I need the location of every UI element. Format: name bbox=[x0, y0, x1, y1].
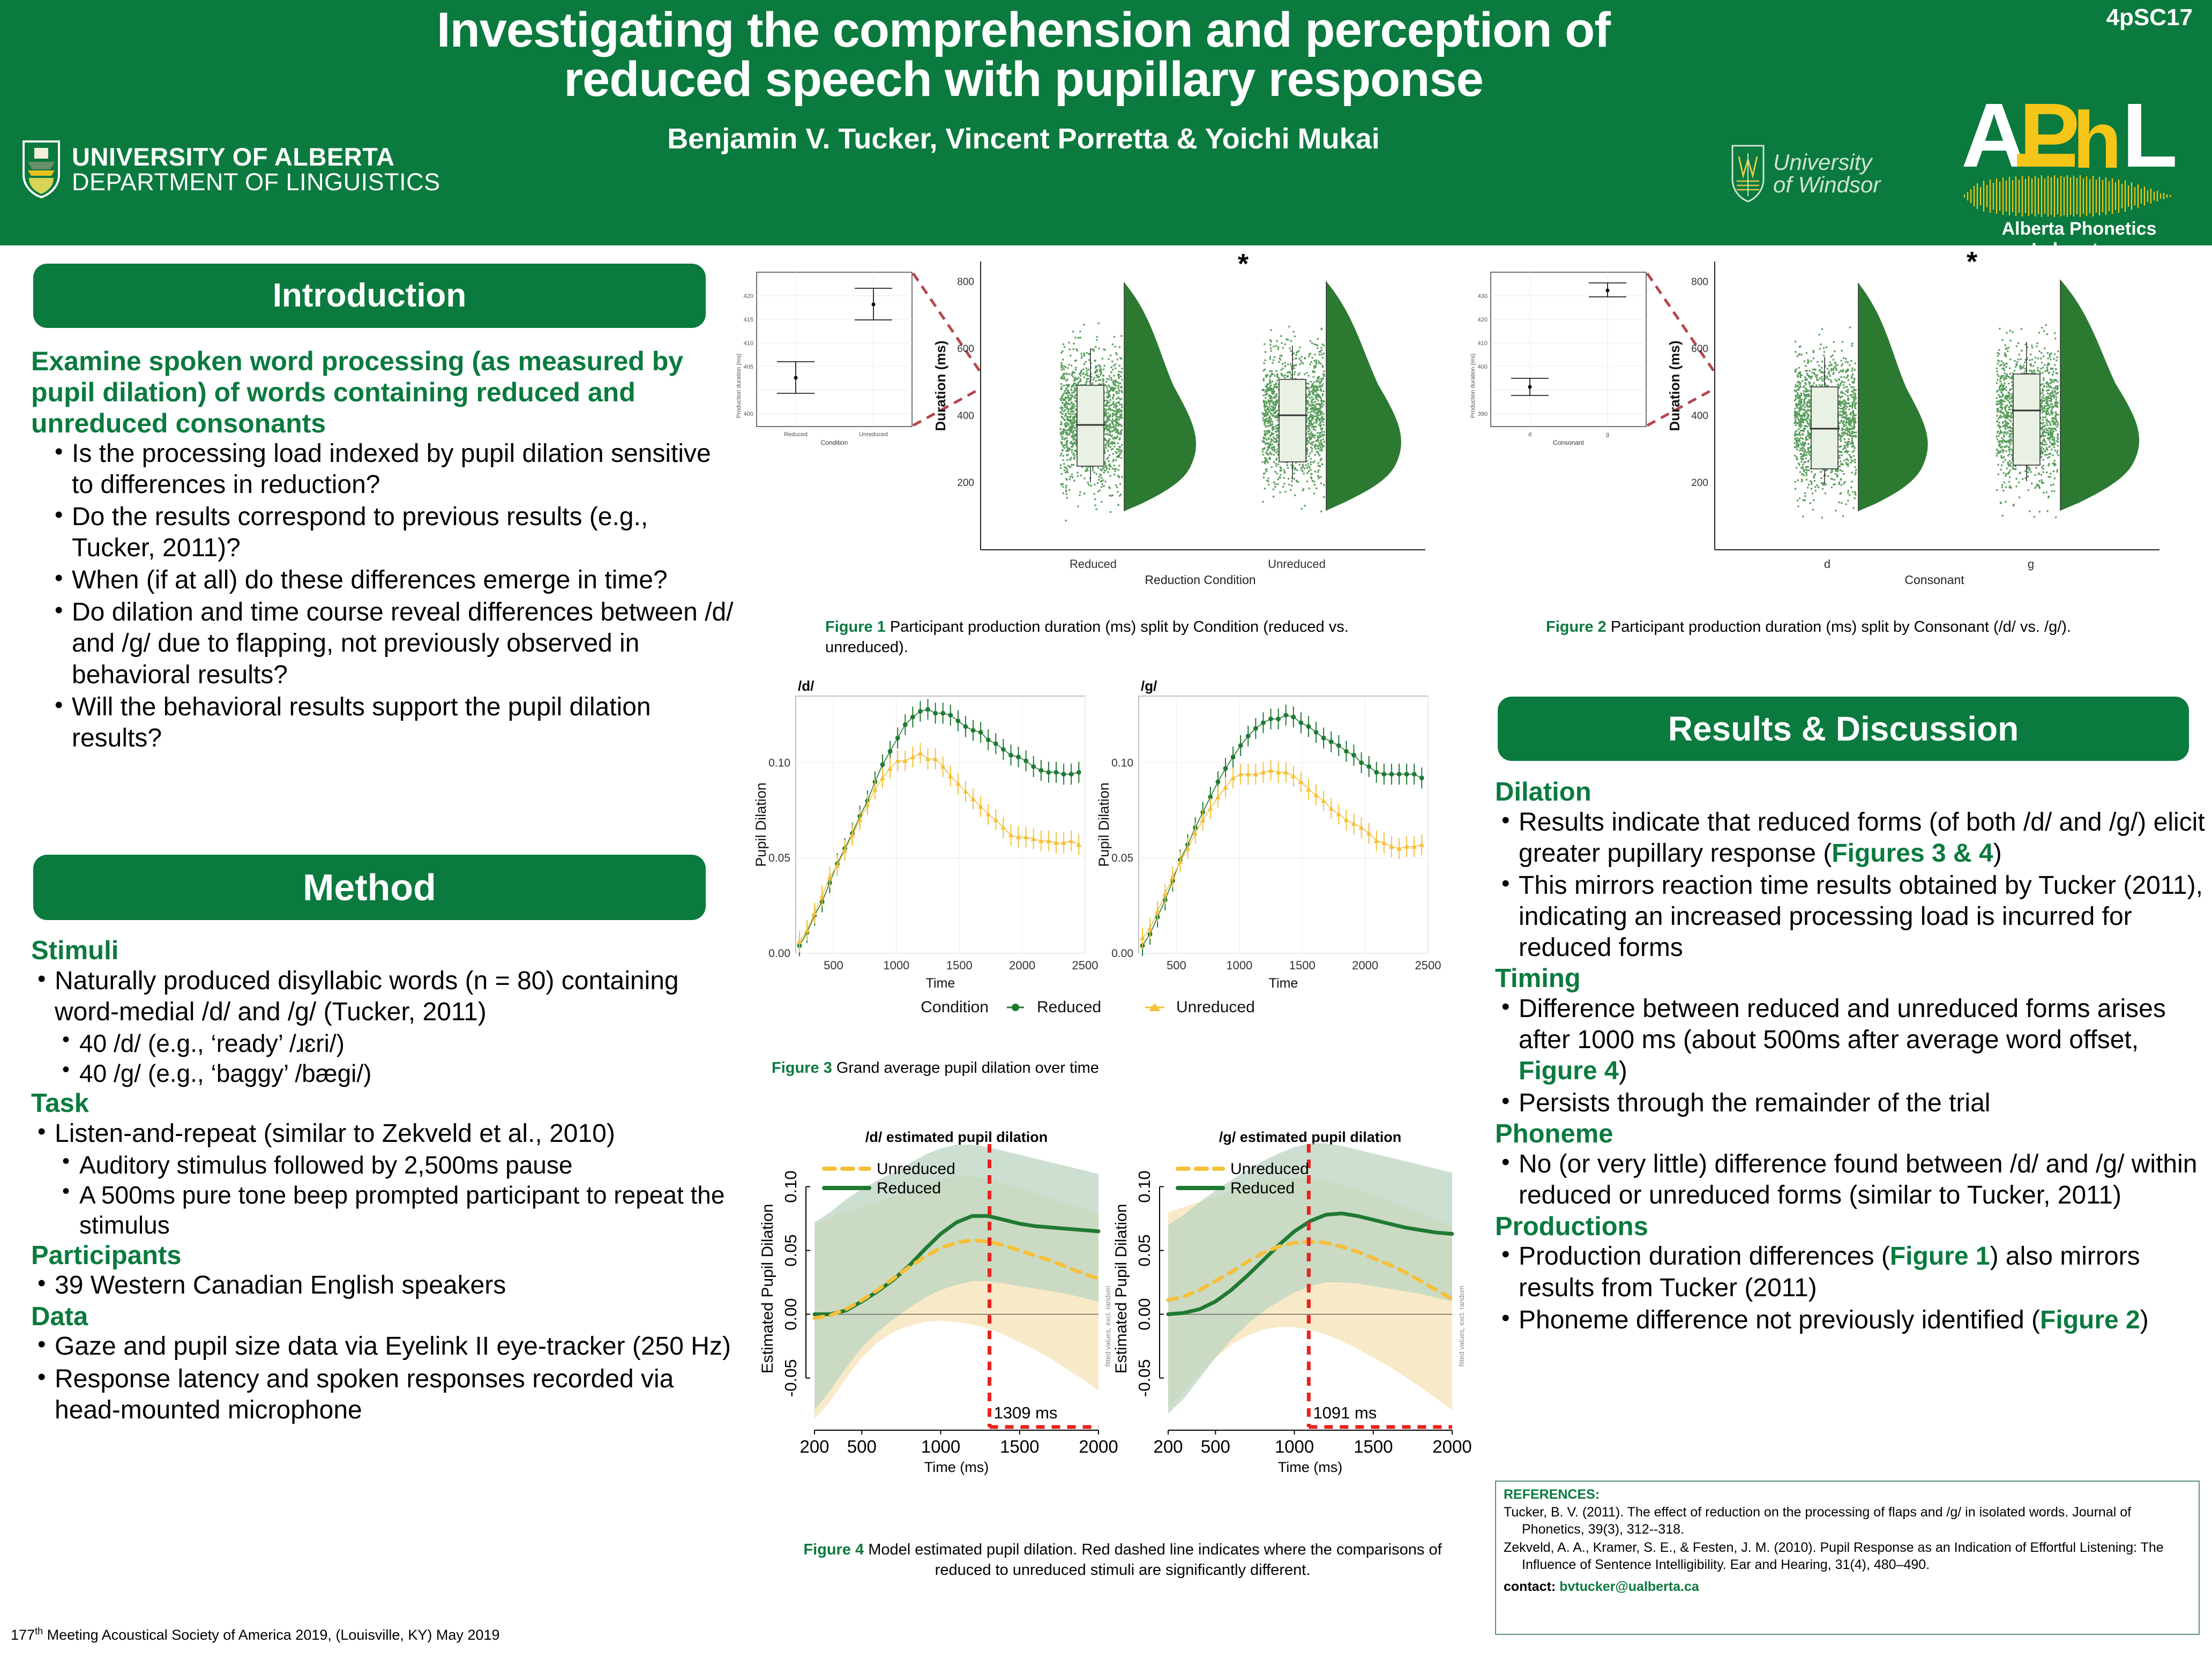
svg-text:Duration (ms): Duration (ms) bbox=[932, 341, 948, 431]
figure-2-density-g bbox=[2060, 280, 2139, 511]
svg-text:*: * bbox=[1967, 252, 1978, 278]
figure-4-caption: Figure 4 Model estimated pupil dilation.… bbox=[777, 1540, 1468, 1580]
svg-text:Consonant: Consonant bbox=[1553, 439, 1585, 446]
svg-text:600: 600 bbox=[957, 343, 974, 355]
list-item: When (if at all) do these differences em… bbox=[48, 565, 737, 596]
results-body: DilationResults indicate that reduced fo… bbox=[1495, 778, 2208, 1337]
svg-text:400: 400 bbox=[1691, 410, 1708, 422]
sub-list-item: A 500ms pure tone beep prompted particip… bbox=[55, 1180, 744, 1240]
author-list: Benjamin V. Tucker, Vincent Porretta & Y… bbox=[300, 122, 1747, 155]
page-title: Investigating the comprehension and perc… bbox=[300, 5, 1747, 104]
footer-sup: th bbox=[35, 1626, 43, 1636]
list-item: Gaze and pupil size data via Eyelink II … bbox=[31, 1331, 744, 1362]
figure-2-number: Figure 2 bbox=[1546, 618, 1606, 636]
svg-text:Unreduced: Unreduced bbox=[859, 431, 888, 438]
figure-3-caption-text: Grand average pupil dilation over time bbox=[836, 1059, 1099, 1077]
aphl-letter-h: h bbox=[2073, 106, 2122, 175]
method-subheading: Data bbox=[31, 1303, 744, 1332]
list-item: No (or very little) difference found bet… bbox=[1495, 1149, 2208, 1211]
ua-logo-line-2: DEPARTMENT OF LINGUISTICS bbox=[72, 170, 440, 195]
contact-email[interactable]: bvtucker@ualberta.ca bbox=[1559, 1579, 1699, 1594]
contact-line: contact: bvtucker@ualberta.ca bbox=[1504, 1579, 2191, 1595]
method-body: StimuliNaturally produced disyllabic wor… bbox=[31, 937, 744, 1427]
svg-text:Duration (ms): Duration (ms) bbox=[1667, 341, 1683, 431]
svg-text:*: * bbox=[1238, 252, 1249, 280]
method-sub-bullet-list: Auditory stimulus followed by 2,500ms pa… bbox=[55, 1150, 744, 1240]
list-item: Results indicate that reduced forms (of … bbox=[1495, 807, 2208, 869]
list-item: 39 Western Canadian English speakers bbox=[31, 1270, 744, 1301]
svg-text:Reduced: Reduced bbox=[1070, 557, 1117, 571]
method-bullet-list: 39 Western Canadian English speakers bbox=[31, 1270, 744, 1301]
poster-header: Investigating the comprehension and perc… bbox=[0, 0, 2212, 245]
method-sub-bullet-list: 40 /d/ (e.g., ‘ready’ /ɹɛri/)40 /g/ (e.g… bbox=[55, 1028, 744, 1088]
figure-1-caption: Figure 1 Participant production duration… bbox=[825, 617, 1415, 657]
svg-text:800: 800 bbox=[1691, 276, 1708, 288]
sub-list-item: 40 /g/ (e.g., ‘baggy’ /bægi/) bbox=[55, 1058, 744, 1088]
reference-entry: Tucker, B. V. (2011). The effect of redu… bbox=[1504, 1504, 2191, 1538]
windsor-line-2: of Windsor bbox=[1773, 174, 1880, 196]
figure-2-density-d bbox=[1858, 283, 1928, 511]
svg-text:Reduced: Reduced bbox=[784, 431, 808, 438]
conference-footer: 177th Meeting Acoustical Society of Amer… bbox=[11, 1626, 500, 1643]
list-item: Will the behavioral results support the … bbox=[48, 692, 737, 754]
results-subheading: Productions bbox=[1495, 1213, 2208, 1242]
aphl-letter-l: L bbox=[2122, 97, 2178, 175]
figure-4-plot: /d/ estimated pupil dilation1309 ms20050… bbox=[745, 1123, 1506, 1546]
figure-reference: Figures 3 & 4 bbox=[1832, 839, 1993, 868]
title-line-2: reduced speech with pupillary response bbox=[300, 55, 1747, 104]
svg-text:g: g bbox=[2028, 557, 2034, 571]
figure-3-number: Figure 3 bbox=[772, 1059, 832, 1077]
figure-1-plot: 420 415 410 405 400 Reduced Unreduced Co… bbox=[729, 252, 1479, 606]
figure-1-main: 800 600 400 200 Duration (ms) Reduced Un… bbox=[932, 252, 1425, 587]
method-subheading: Participants bbox=[31, 1242, 744, 1271]
list-item: Do the results correspond to previous re… bbox=[48, 502, 737, 564]
figure-3-panel-title: /g/ bbox=[1141, 678, 1157, 694]
results-subheading: Dilation bbox=[1495, 778, 2208, 807]
svg-text:400: 400 bbox=[1478, 364, 1488, 370]
ua-logo-line-1: UNIVERSITY OF ALBERTA bbox=[72, 144, 440, 170]
list-item: Difference between reduced and unreduced… bbox=[1495, 993, 2208, 1087]
method-bullet-list: Listen-and-repeat (similar to Zekveld et… bbox=[31, 1118, 744, 1240]
section-header-introduction: Introduction bbox=[33, 264, 706, 328]
results-subheading: Phoneme bbox=[1495, 1120, 2208, 1149]
svg-text:410: 410 bbox=[744, 340, 753, 347]
results-bullet-list: Difference between reduced and unreduced… bbox=[1495, 993, 2208, 1119]
sub-list-item: 40 /d/ (e.g., ‘ready’ /ɹɛri/) bbox=[55, 1028, 744, 1058]
title-line-1: Investigating the comprehension and perc… bbox=[300, 5, 1747, 55]
svg-text:200: 200 bbox=[1691, 477, 1708, 489]
figure-4-caption-text: Model estimated pupil dilation. Red dash… bbox=[868, 1541, 1441, 1579]
list-item: This mirrors reaction time results obtai… bbox=[1495, 870, 2208, 963]
alberta-shield-icon bbox=[20, 139, 62, 199]
section-header-results-discussion: Results & Discussion bbox=[1498, 697, 2189, 761]
svg-text:800: 800 bbox=[957, 276, 974, 288]
contact-label: contact: bbox=[1504, 1579, 1556, 1594]
results-bullet-list: Production duration differences (Figure … bbox=[1495, 1241, 2208, 1335]
list-item: Phoneme difference not previously identi… bbox=[1495, 1305, 2208, 1336]
figure-4-number: Figure 4 bbox=[803, 1541, 864, 1558]
method-bullet-list: Gaze and pupil size data via Eyelink II … bbox=[31, 1331, 744, 1425]
svg-text:d: d bbox=[1824, 557, 1830, 571]
figure-4-panel-title: /d/ estimated pupil dilation bbox=[865, 1129, 1048, 1145]
figure-reference: Figure 2 bbox=[2040, 1306, 2140, 1334]
figure-1-density-unreduced bbox=[1326, 281, 1401, 511]
section-header-method: Method bbox=[33, 855, 706, 920]
footer-post: Meeting Acoustical Society of America 20… bbox=[43, 1627, 499, 1643]
reference-entry: Zekveld, A. A., Kramer, S. E., & Festen,… bbox=[1504, 1540, 2191, 1573]
list-item: Production duration differences (Figure … bbox=[1495, 1241, 2208, 1303]
svg-text:Unreduced: Unreduced bbox=[1268, 557, 1326, 571]
figure-1-caption-text: Participant production duration (ms) spl… bbox=[825, 618, 1349, 656]
results-subheading: Timing bbox=[1495, 965, 2208, 993]
results-bullet-list: No (or very little) difference found bet… bbox=[1495, 1149, 2208, 1211]
svg-text:Condition: Condition bbox=[821, 439, 848, 446]
figure-1-number: Figure 1 bbox=[825, 618, 886, 636]
svg-text:200: 200 bbox=[957, 477, 974, 489]
svg-text:600: 600 bbox=[1691, 343, 1708, 355]
svg-text:420: 420 bbox=[744, 293, 753, 300]
references-list: Tucker, B. V. (2011). The effect of redu… bbox=[1504, 1504, 2191, 1573]
footer-pre: 177 bbox=[11, 1627, 35, 1643]
figure-2-caption-text: Participant production duration (ms) spl… bbox=[1611, 618, 2071, 636]
method-subheading: Task bbox=[31, 1089, 744, 1118]
figure-1: 420 415 410 405 400 Reduced Unreduced Co… bbox=[729, 252, 1479, 606]
figure-3-plot: /d/0.000.050.105001000150020002500Time/g… bbox=[731, 672, 1490, 1058]
svg-text:Production duration (ms): Production duration (ms) bbox=[736, 354, 742, 418]
svg-text:d: d bbox=[1528, 431, 1531, 438]
university-of-alberta-logo: UNIVERSITY OF ALBERTA DEPARTMENT OF LING… bbox=[20, 139, 440, 199]
windsor-line-1: University bbox=[1773, 151, 1880, 174]
figure-4-significance-label: 1091 ms bbox=[1313, 1403, 1377, 1422]
svg-text:Production duration (ms): Production duration (ms) bbox=[1470, 354, 1476, 418]
svg-text:400: 400 bbox=[957, 410, 974, 422]
svg-text:400: 400 bbox=[744, 411, 753, 417]
svg-text:390: 390 bbox=[1478, 411, 1488, 417]
figure-4-significance-label: 1309 ms bbox=[994, 1403, 1058, 1422]
figure-3-panel-title: /d/ bbox=[798, 678, 814, 694]
references-heading: REFERENCES: bbox=[1504, 1487, 2191, 1503]
alberta-phonetics-laboratory-logo: A P h L bbox=[1961, 75, 2197, 236]
list-item: Naturally produced disyllabic words (n =… bbox=[31, 966, 744, 1088]
svg-text:415: 415 bbox=[744, 317, 753, 323]
list-item: Response latency and spoken responses re… bbox=[31, 1364, 744, 1426]
figure-reference: Figure 1 bbox=[1890, 1242, 1990, 1271]
figure-1-inset: 420 415 410 405 400 Reduced Unreduced Co… bbox=[736, 272, 912, 446]
sub-list-item: Auditory stimulus followed by 2,500ms pa… bbox=[55, 1150, 744, 1180]
method-bullet-list: Naturally produced disyllabic words (n =… bbox=[31, 966, 744, 1088]
svg-text:Consonant: Consonant bbox=[1904, 573, 1964, 587]
figure-1-density-reduced bbox=[1124, 282, 1196, 511]
list-item: Persists through the remainder of the tr… bbox=[1495, 1088, 2208, 1119]
figure-4-panel-title: /g/ estimated pupil dilation bbox=[1219, 1129, 1402, 1145]
svg-text:Reduction Condition: Reduction Condition bbox=[1145, 573, 1256, 587]
list-item: Listen-and-repeat (similar to Zekveld et… bbox=[31, 1118, 744, 1240]
svg-text:g: g bbox=[1606, 431, 1609, 438]
figure-2: 430 420 410 400 390 d g Consonant Produc… bbox=[1463, 252, 2208, 606]
figure-2-plot: 430 420 410 400 390 d g Consonant Produc… bbox=[1463, 252, 2208, 606]
introduction-lead: Examine spoken word processing (as measu… bbox=[31, 346, 728, 439]
svg-text:410: 410 bbox=[1478, 340, 1488, 347]
method-subheading: Stimuli bbox=[31, 937, 744, 966]
results-bullet-list: Results indicate that reduced forms (of … bbox=[1495, 807, 2208, 963]
university-of-windsor-logo: University of Windsor bbox=[1728, 144, 1880, 204]
svg-text:420: 420 bbox=[1478, 317, 1488, 323]
figure-3-caption: Figure 3 Grand average pupil dilation ov… bbox=[772, 1058, 1361, 1079]
figure-reference: Figure 4 bbox=[1519, 1057, 1619, 1085]
windsor-shield-icon bbox=[1728, 144, 1768, 204]
paper-id-badge: 4pSC17 bbox=[2106, 4, 2193, 31]
figure-2-inset: 430 420 410 400 390 d g Consonant Produc… bbox=[1470, 272, 1646, 446]
svg-text:430: 430 bbox=[1478, 293, 1488, 300]
list-item: Is the processing load indexed by pupil … bbox=[48, 438, 737, 500]
figure-2-caption: Figure 2 Participant production duration… bbox=[1546, 617, 2162, 638]
list-item: Do dilation and time course reveal diffe… bbox=[48, 597, 737, 690]
figure-4: /d/ estimated pupil dilation1309 ms20050… bbox=[745, 1123, 1506, 1546]
references-box: REFERENCES: Tucker, B. V. (2011). The ef… bbox=[1495, 1481, 2200, 1635]
svg-text:405: 405 bbox=[744, 364, 753, 370]
figure-2-main: 800 600 400 200 Duration (ms) d g Conson… bbox=[1667, 252, 2159, 587]
introduction-bullet-list: Is the processing load indexed by pupil … bbox=[48, 438, 737, 755]
figure-3: /d/0.000.050.105001000150020002500Time/g… bbox=[731, 672, 1490, 1058]
